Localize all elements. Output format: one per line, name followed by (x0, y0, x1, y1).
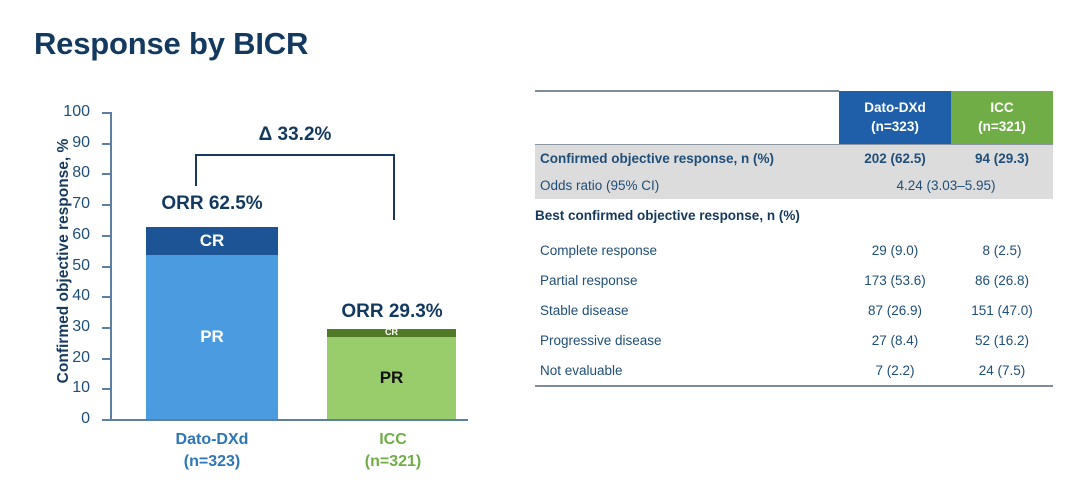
x-category-n-icc: (n=321) (309, 451, 477, 473)
table-row: Partial response 173 (53.6) 86 (26.8) (535, 265, 1053, 295)
y-tick-30: 30 (102, 327, 110, 329)
table-cell-confirmed-objective-response-icc: 94 (29.3) (951, 145, 1053, 173)
response-summary-table: Dato-DXd (n=323) ICC (n=321) Confirmed o… (535, 90, 1053, 387)
y-tick-label-0: 0 (81, 410, 90, 428)
delta-bracket-left-arm (195, 154, 197, 186)
y-tick-label-40: 40 (72, 287, 90, 305)
y-axis-title: Confirmed objective response, % (55, 111, 73, 411)
y-tick-100: 100 (102, 112, 110, 114)
x-category-label-dato-dxd: Dato-DXd (n=323) (128, 429, 296, 472)
table-row-label-complete-response: Complete response (535, 235, 839, 265)
table-cell-progressive-disease-dato: 27 (8.4) (839, 325, 951, 355)
table-row-label-not-evaluable: Not evaluable (535, 355, 839, 386)
x-category-name-icc: ICC (309, 429, 477, 451)
table-cell-complete-response-icc: 8 (2.5) (951, 235, 1053, 265)
delta-label: Δ 33.2% (195, 124, 395, 146)
y-tick-0: 0 (102, 419, 110, 421)
table-header-blank (535, 91, 839, 145)
data-table: Dato-DXd (n=323) ICC (n=321) Confirmed o… (535, 90, 1053, 387)
bar-segment-label-dato-pr: PR (200, 328, 224, 345)
bar-segment-dato-cr[interactable]: CR (146, 227, 278, 254)
table-header-icc-label: ICC (951, 99, 1053, 117)
table-header-icc: ICC (n=321) (951, 91, 1053, 145)
y-tick-label-80: 80 (72, 164, 90, 182)
table-section-label-best-confirmed-objective-response: Best confirmed objective response, n (%) (535, 199, 1053, 235)
y-tick-label-10: 10 (72, 379, 90, 397)
table-cell-odds-ratio-value: 4.24 (3.03–5.95) (839, 172, 1053, 199)
y-tick-label-20: 20 (72, 349, 90, 367)
y-tick-label-70: 70 (72, 195, 90, 213)
bar-segment-label-icc-pr: PR (380, 369, 404, 386)
y-tick-40: 40 (102, 296, 110, 298)
table-cell-stable-disease-icc: 151 (47.0) (951, 295, 1053, 325)
table-row: Progressive disease 27 (8.4) 52 (16.2) (535, 325, 1053, 355)
table-cell-not-evaluable-icc: 24 (7.5) (951, 355, 1053, 386)
x-category-n-dato-dxd: (n=323) (128, 451, 296, 473)
x-category-label-icc: ICC (n=321) (309, 429, 477, 472)
y-axis-line (110, 112, 112, 420)
bar-segment-icc-pr[interactable]: PR (327, 337, 456, 419)
response-bar-chart: Confirmed objective response, % 100 90 8… (0, 92, 520, 487)
y-tick-60: 60 (102, 235, 110, 237)
table-row-label-partial-response: Partial response (535, 265, 839, 295)
x-category-name-dato-dxd: Dato-DXd (128, 429, 296, 451)
y-tick-label-90: 90 (72, 134, 90, 152)
table-header-row: Dato-DXd (n=323) ICC (n=321) (535, 91, 1053, 145)
table-header-dato-dxd: Dato-DXd (n=323) (839, 91, 951, 145)
y-tick-50: 50 (102, 266, 110, 268)
y-tick-20: 20 (102, 358, 110, 360)
bar-segment-label-dato-cr: CR (200, 232, 225, 249)
table-row: Odds ratio (95% CI) 4.24 (3.03–5.95) (535, 172, 1053, 199)
table-header-icc-n: (n=321) (951, 118, 1053, 136)
table-row-label-confirmed-objective-response: Confirmed objective response, n (%) (535, 145, 839, 173)
x-axis-line (110, 419, 468, 421)
table-cell-confirmed-objective-response-dato: 202 (62.5) (839, 145, 951, 173)
y-tick-90: 90 (102, 143, 110, 145)
y-tick-label-30: 30 (72, 318, 90, 336)
plot-area: 100 90 80 70 60 50 40 30 20 10 0 PR CR P… (110, 112, 482, 419)
y-tick-80: 80 (102, 173, 110, 175)
table-section-row: Best confirmed objective response, n (%) (535, 199, 1053, 235)
y-tick-70: 70 (102, 204, 110, 206)
y-tick-10: 10 (102, 388, 110, 390)
bar-icc[interactable]: PR CR (327, 329, 456, 419)
table-header-dato-dxd-label: Dato-DXd (839, 99, 951, 117)
table-row: Complete response 29 (9.0) 8 (2.5) (535, 235, 1053, 265)
table-row-label-stable-disease: Stable disease (535, 295, 839, 325)
y-tick-label-100: 100 (63, 103, 90, 121)
table-cell-partial-response-dato: 173 (53.6) (839, 265, 951, 295)
table-cell-not-evaluable-dato: 7 (2.2) (839, 355, 951, 386)
table-cell-stable-disease-dato: 87 (26.9) (839, 295, 951, 325)
table-row-label-progressive-disease: Progressive disease (535, 325, 839, 355)
table-row: Stable disease 87 (26.9) 151 (47.0) (535, 295, 1053, 325)
delta-bracket-top (195, 154, 395, 156)
table-cell-progressive-disease-icc: 52 (16.2) (951, 325, 1053, 355)
table-cell-complete-response-dato: 29 (9.0) (839, 235, 951, 265)
orr-label-icc: ORR 29.3% (310, 301, 474, 323)
table-header-dato-dxd-n: (n=323) (839, 118, 951, 136)
delta-bracket (195, 154, 395, 220)
table-row: Confirmed objective response, n (%) 202 … (535, 145, 1053, 173)
y-tick-label-60: 60 (72, 226, 90, 244)
y-tick-label-50: 50 (72, 257, 90, 275)
bar-segment-dato-pr[interactable]: PR (146, 255, 278, 420)
table-row: Not evaluable 7 (2.2) 24 (7.5) (535, 355, 1053, 386)
table-row-label-odds-ratio: Odds ratio (95% CI) (535, 172, 839, 199)
bar-segment-label-icc-cr: CR (385, 328, 398, 337)
bar-segment-icc-cr[interactable]: CR (327, 329, 456, 337)
bar-dato-dxd[interactable]: PR CR (146, 227, 278, 419)
page-title: Response by BICR (34, 26, 308, 62)
delta-bracket-right-arm (393, 154, 395, 220)
table-cell-partial-response-icc: 86 (26.8) (951, 265, 1053, 295)
